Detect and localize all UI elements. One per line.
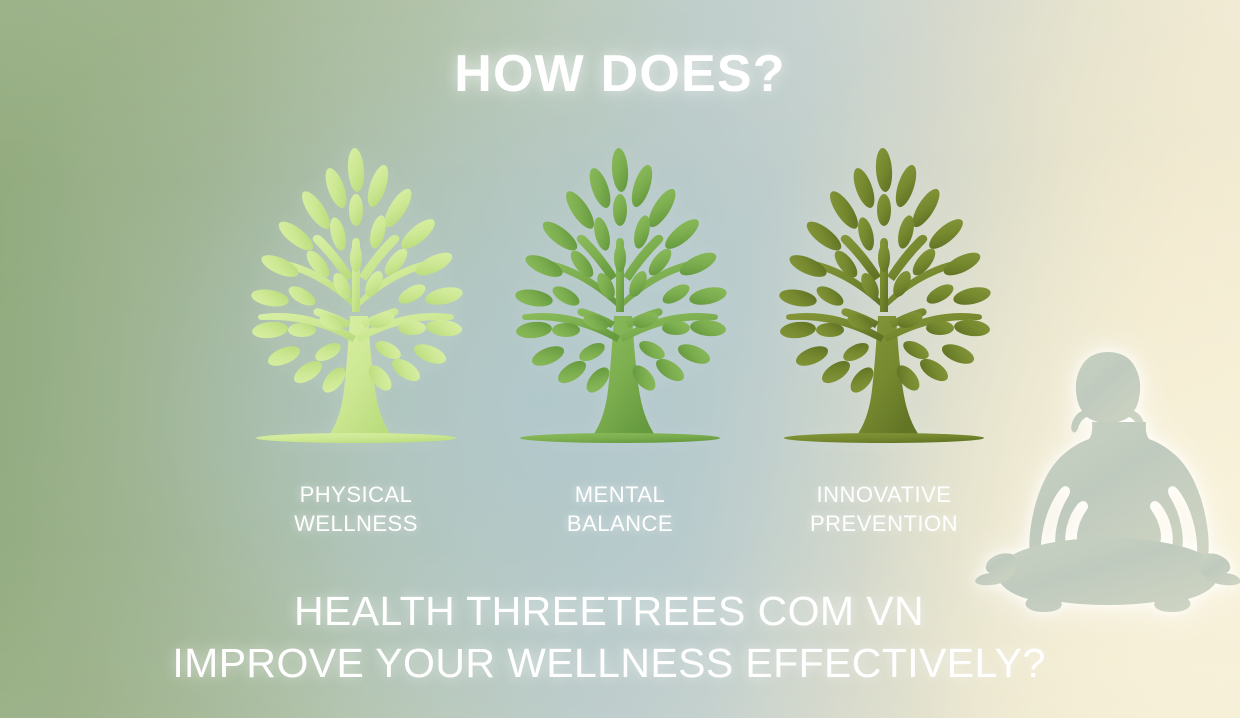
tree-item-innovative-prevention: [760, 146, 1008, 456]
tree-row: [232, 146, 1008, 456]
tree-label-innovative-prevention: INNOVATIVE PREVENTION: [760, 480, 1008, 539]
meditating-person-silhouette: [972, 340, 1240, 628]
tree-label-line2: PREVENTION: [760, 509, 1008, 538]
tree-item-physical-wellness: [232, 146, 480, 456]
bottom-headline-line2: IMPROVE YOUR WELLNESS EFFECTIVELY?: [0, 638, 1218, 690]
tree-icon: [232, 146, 480, 456]
tree-label-row: PHYSICAL WELLNESS MENTAL BALANCE INNOVAT…: [232, 480, 1008, 539]
tree-icon: [496, 146, 744, 456]
tree-label-line1: PHYSICAL: [300, 482, 413, 507]
tree-label-physical-wellness: PHYSICAL WELLNESS: [232, 480, 480, 539]
tree-label-line2: BALANCE: [496, 509, 744, 538]
tree-item-mental-balance: [496, 146, 744, 456]
tree-icon: [760, 146, 1008, 456]
page-title: HOW DOES?: [0, 44, 1240, 104]
tree-label-mental-balance: MENTAL BALANCE: [496, 480, 744, 539]
tree-label-line2: WELLNESS: [232, 509, 480, 538]
slide-canvas: HOW DOES?: [0, 0, 1240, 718]
tree-label-line1: INNOVATIVE: [817, 482, 952, 507]
meditating-person-icon: [972, 340, 1240, 628]
tree-label-line1: MENTAL: [575, 482, 666, 507]
